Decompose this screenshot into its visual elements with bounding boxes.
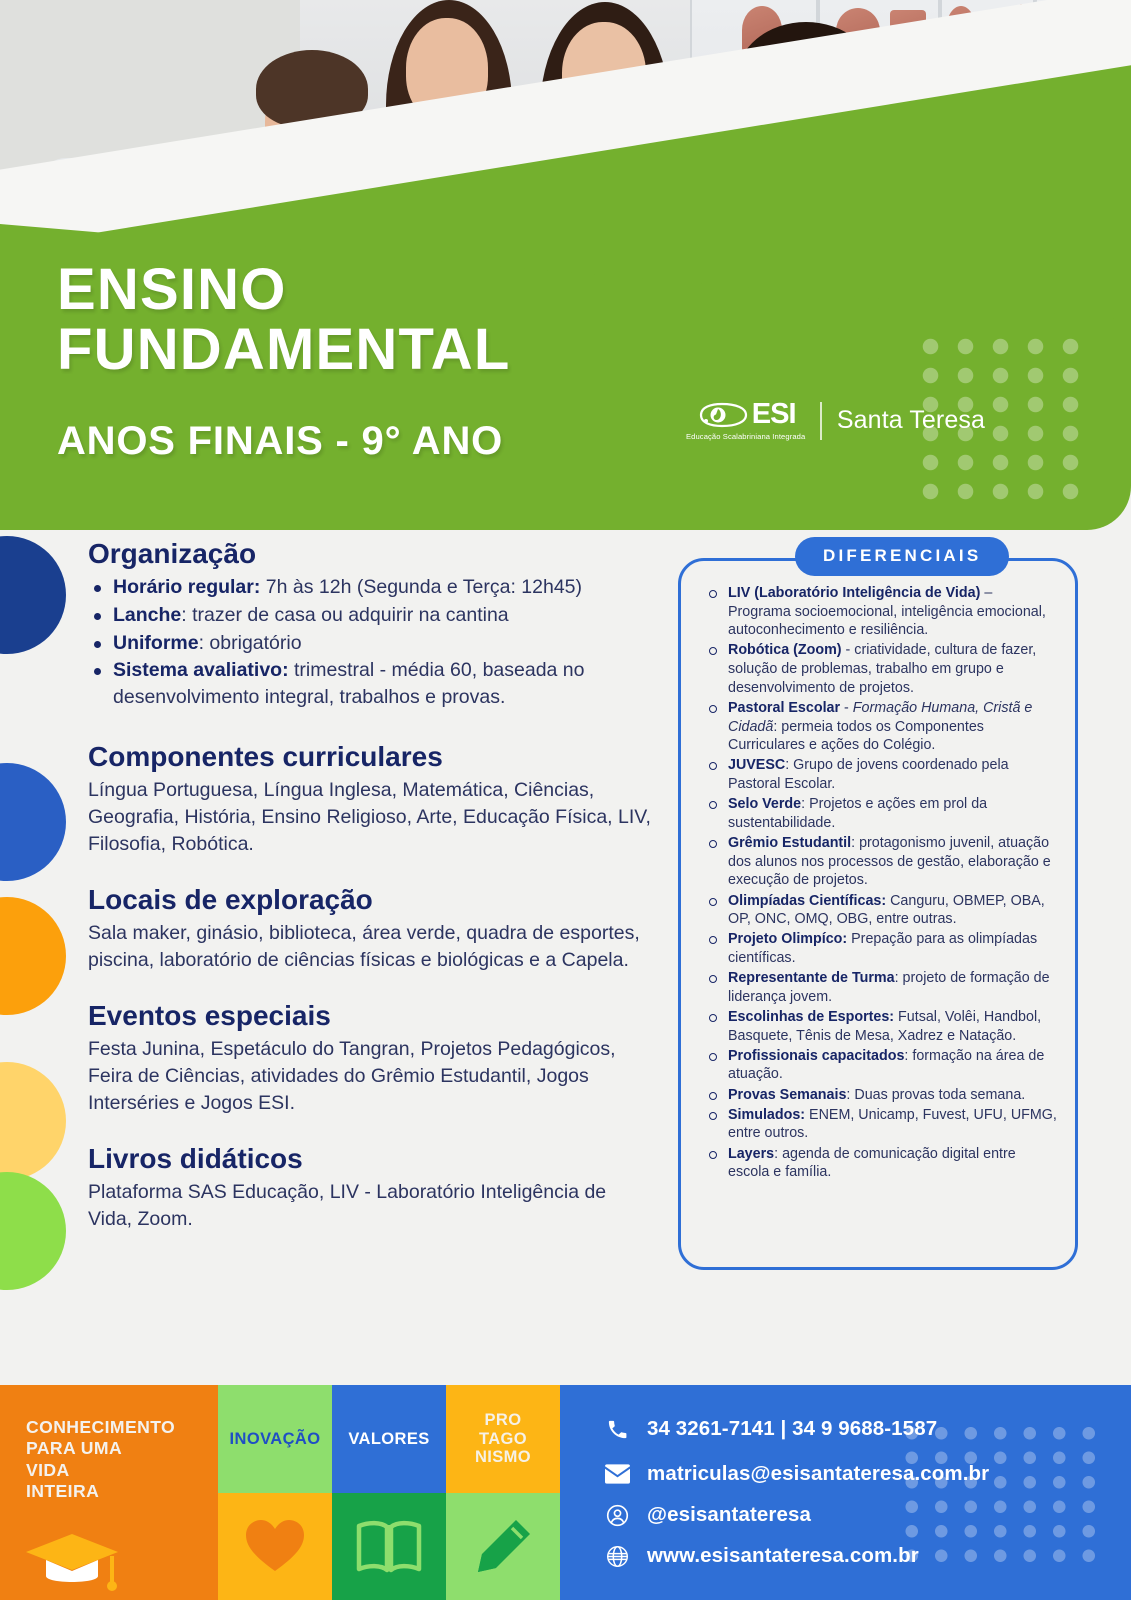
page-subtitle: ANOS FINAIS - 9° ANO (57, 419, 503, 464)
bullet-label: Uniforme (113, 632, 199, 654)
logo-unit-name: Santa Teresa (837, 406, 985, 435)
footer: CONHECIMENTOPARA UMAVIDAINTEIRA INOVAÇÃO… (0, 1385, 1131, 1600)
tile-protagonismo: PROTAGONISMO (446, 1385, 560, 1493)
decor-circle-1 (0, 536, 66, 654)
section-organizacao: Organização Horário regular: 7h às 12h (… (88, 538, 668, 711)
bullet-label: Sistema avaliativo: (113, 659, 289, 681)
diferenciais-list: LIV (Laboratório Inteligência de Vida) –… (706, 584, 1058, 1183)
tile-label: INOVAÇÃO (230, 1430, 321, 1448)
knowledge-text: CONHECIMENTOPARA UMAVIDAINTEIRA (26, 1417, 175, 1503)
diferenciais-item: Projeto Olimpíco: Prepação para as olimp… (706, 930, 1058, 967)
section-heading: Livros didáticos (88, 1143, 668, 1175)
tile-pencil (446, 1493, 560, 1600)
diferenciais-item: Olimpíadas Científicas: Canguru, OBMEP, … (706, 892, 1058, 929)
tile-label: PROTAGONISMO (475, 1411, 531, 1466)
envelope-icon (604, 1464, 630, 1484)
tile-valores: VALORES (332, 1385, 446, 1493)
esi-logo: ESI Educação Scalabriniana Integrada San… (686, 400, 985, 441)
diferenciais-item: Simulados: ENEM, Unicamp, Fuvest, UFU, U… (706, 1106, 1058, 1143)
footer-contact: 34 3261-7141 | 34 9 9688-1587 matriculas… (560, 1385, 1131, 1600)
tile-book (332, 1493, 446, 1600)
section-heading: Eventos especiais (88, 1000, 668, 1032)
contact-email[interactable]: matriculas@esisantateresa.com.br (604, 1462, 989, 1486)
section-eventos: Eventos especiais Festa Junina, Espetácu… (88, 1000, 668, 1117)
tile-heart (218, 1493, 332, 1600)
open-book-icon (355, 1518, 423, 1574)
decor-circle-3 (0, 897, 66, 1015)
diferenciais-item: Representante de Turma: projeto de forma… (706, 969, 1058, 1006)
instagram-text: @esisantateresa (647, 1503, 811, 1527)
logo-divider (820, 402, 822, 440)
organizacao-list: Horário regular: 7h às 12h (Segunda e Te… (88, 574, 668, 711)
bullet-label: Horário regular: (113, 576, 260, 598)
page-title: ENSINO FUNDAMENTAL (57, 260, 511, 381)
heart-icon (244, 1518, 306, 1574)
bullet-label: Lanche (113, 604, 181, 626)
list-item: Horário regular: 7h às 12h (Segunda e Te… (88, 574, 668, 601)
flyer-page: ENSINO FUNDAMENTAL ANOS FINAIS - 9° ANO … (0, 0, 1131, 1600)
left-content-column: Organização Horário regular: 7h às 12h (… (88, 538, 668, 1257)
instagram-icon (604, 1504, 630, 1527)
logo-mark: ESI Educação Scalabriniana Integrada (686, 400, 805, 441)
section-body: Sala maker, ginásio, biblioteca, área ve… (88, 920, 684, 974)
esi-swirl-icon (696, 402, 750, 428)
title-line-2: FUNDAMENTAL (57, 320, 511, 380)
contact-instagram[interactable]: @esisantateresa (604, 1503, 811, 1527)
decor-circle-5 (0, 1172, 66, 1290)
diferenciais-item: Selo Verde: Projetos e ações em prol da … (706, 795, 1058, 832)
section-body: Língua Portuguesa, Língua Inglesa, Matem… (88, 777, 668, 858)
section-body: Festa Junina, Espetáculo do Tangran, Pro… (88, 1036, 640, 1117)
decor-circle-4 (0, 1062, 66, 1180)
contact-dot-pattern (897, 1421, 1107, 1571)
bullet-text: : trazer de casa ou adquirir na cantina (181, 604, 508, 626)
diferenciais-item: Layers: agenda de comunicação digital en… (706, 1145, 1058, 1182)
section-livros: Livros didáticos Plataforma SAS Educação… (88, 1143, 668, 1233)
diferenciais-item: Grêmio Estudantil: protagonismo juvenil,… (706, 834, 1058, 890)
section-body: Plataforma SAS Educação, LIV - Laboratór… (88, 1179, 628, 1233)
section-heading: Organização (88, 538, 668, 570)
tile-label: VALORES (348, 1430, 429, 1448)
website-text: www.esisantateresa.com.br (647, 1544, 919, 1568)
footer-value-tiles: INOVAÇÃO VALORES PROTAGONISMO (218, 1385, 560, 1600)
phone-text: 34 3261-7141 | 34 9 9688-1587 (647, 1417, 937, 1441)
logo-esi-text: ESI (752, 400, 796, 429)
diferenciais-item: JUVESC: Grupo de jovens coordenado pela … (706, 756, 1058, 793)
section-locais: Locais de exploração Sala maker, ginásio… (88, 884, 668, 974)
diferenciais-item: Pastoral Escolar - Formação Humana, Cris… (706, 699, 1058, 755)
phone-icon (604, 1418, 630, 1441)
diferenciais-item: LIV (Laboratório Inteligência de Vida) –… (706, 584, 1058, 640)
graduation-cap-icon (24, 1530, 120, 1592)
tile-inovacao: INOVAÇÃO (218, 1385, 332, 1493)
contact-website[interactable]: www.esisantateresa.com.br (604, 1544, 919, 1568)
list-item: Uniforme: obrigatório (88, 630, 668, 657)
diferenciais-badge: DIFERENCIAIS (795, 537, 1009, 576)
diferenciais-item: Provas Semanais: Duas provas toda semana… (706, 1086, 1058, 1105)
globe-icon (604, 1545, 630, 1568)
footer-knowledge-block: CONHECIMENTOPARA UMAVIDAINTEIRA (0, 1385, 218, 1600)
email-text: matriculas@esisantateresa.com.br (647, 1462, 989, 1486)
list-item: Sistema avaliativo: trimestral - média 6… (88, 657, 668, 710)
section-componentes: Componentes curriculares Língua Portugue… (88, 741, 668, 858)
logo-subtitle: Educação Scalabriniana Integrada (686, 432, 805, 441)
section-heading: Locais de exploração (88, 884, 668, 916)
list-item: Lanche: trazer de casa ou adquirir na ca… (88, 602, 668, 629)
diferenciais-item: Escolinhas de Esportes: Futsal, Volêi, H… (706, 1008, 1058, 1045)
section-heading: Componentes curriculares (88, 741, 668, 773)
pencil-icon (472, 1516, 534, 1576)
diferenciais-item: Robótica (Zoom) - criatividade, cultura … (706, 641, 1058, 697)
bullet-text: : obrigatório (199, 632, 302, 654)
diferenciais-item: Profissionais capacitados: formação na á… (706, 1047, 1058, 1084)
contact-phone[interactable]: 34 3261-7141 | 34 9 9688-1587 (604, 1417, 937, 1441)
bullet-text: 7h às 12h (Segunda e Terça: 12h45) (260, 576, 582, 598)
decor-circle-2 (0, 763, 66, 881)
title-line-1: ENSINO (57, 260, 511, 320)
